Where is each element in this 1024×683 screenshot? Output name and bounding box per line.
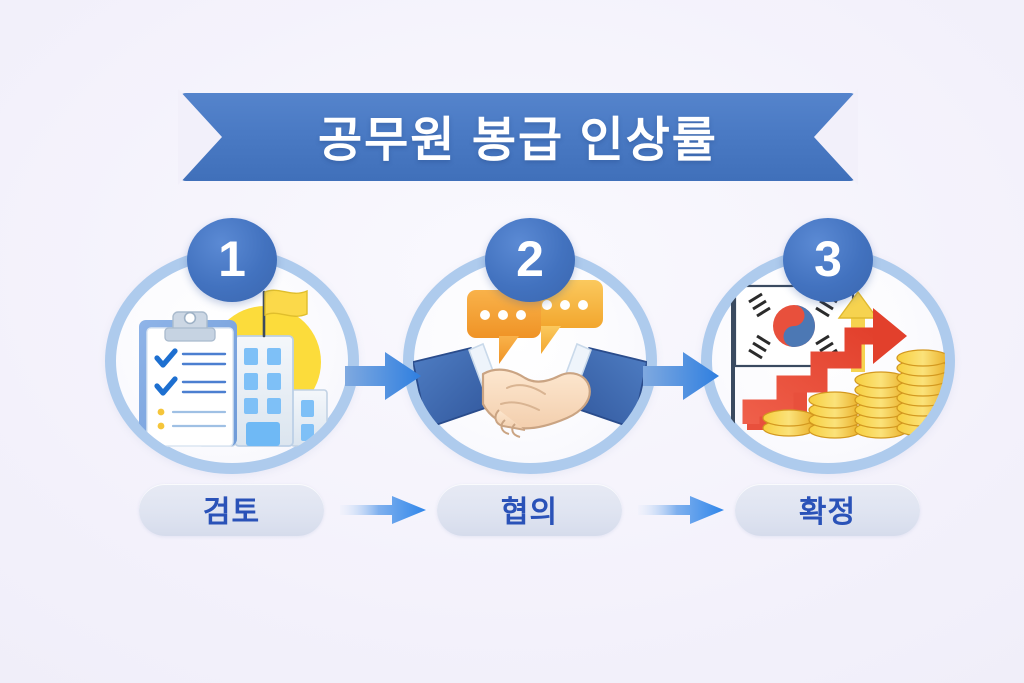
step-1-number-badge: 1 <box>187 218 277 302</box>
label-connector-arrow-2 <box>638 494 724 526</box>
connector-arrow-2 <box>643 348 719 404</box>
infographic-canvas: 공무원 봉급 인상률 <box>0 0 1024 683</box>
step-label-3[interactable]: 확정 <box>735 484 920 536</box>
label-connector-arrow-1 <box>340 494 426 526</box>
arrow-right-icon <box>345 348 421 404</box>
arrow-right-small-icon <box>340 494 426 526</box>
step-2-number-badge: 2 <box>485 218 575 302</box>
step-1[interactable]: 1 <box>101 218 363 480</box>
connector-arrow-1 <box>345 348 421 404</box>
arrow-right-small-icon <box>638 494 724 526</box>
title-banner: 공무원 봉급 인상률 <box>178 89 858 185</box>
coin-stack-4 <box>897 350 945 436</box>
arrow-right-icon <box>643 348 719 404</box>
step-label-2[interactable]: 협의 <box>437 484 622 536</box>
coin-stack-2 <box>809 392 861 438</box>
steps-row: 1 <box>0 218 1024 480</box>
coin-stack-1 <box>763 410 815 436</box>
step-3-number-badge: 3 <box>783 218 873 302</box>
step-labels-row: 검토 협의 <box>0 484 1024 540</box>
page-title: 공무원 봉급 인상률 <box>178 89 858 185</box>
step-3[interactable]: 3 <box>697 218 959 480</box>
step-2[interactable]: 2 <box>399 218 661 480</box>
step-label-1[interactable]: 검토 <box>139 484 324 536</box>
